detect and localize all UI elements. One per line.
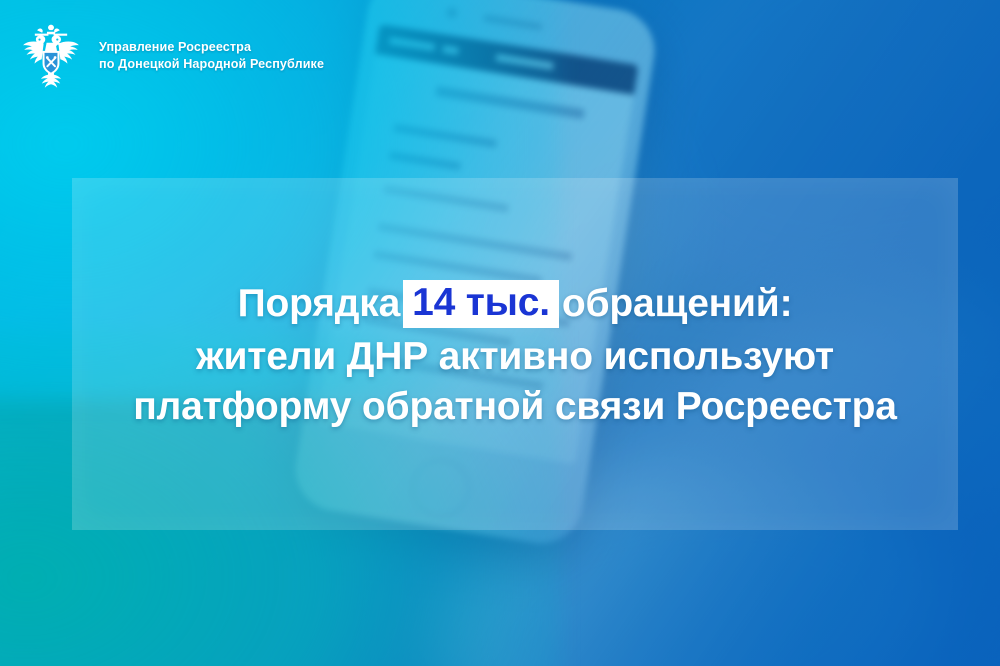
- headline-line-2: жители ДНР активно используют: [196, 336, 834, 378]
- headline-text-block: Порядка 14 тыс. обращений: жители ДНР ак…: [72, 178, 958, 530]
- organisation-name: Управление Росреестра по Донецкой Народн…: [99, 39, 324, 72]
- organisation-name-line1: Управление Росреестра: [99, 39, 324, 56]
- headline-line1-after: обращений:: [562, 283, 793, 325]
- social-media-banner: Управление Росреестра по Донецкой Народн…: [0, 0, 1000, 666]
- logo-block: Управление Росреестра по Донецкой Народн…: [14, 20, 324, 92]
- headline-line-3: платформу обратной связи Росреестра: [133, 386, 897, 428]
- headline-line-1: Порядка 14 тыс. обращений:: [238, 280, 793, 328]
- headline-highlight-badge: 14 тыс.: [403, 280, 559, 328]
- organisation-name-line2: по Донецкой Народной Республике: [99, 56, 324, 73]
- double-headed-eagle-emblem-icon: [14, 20, 88, 92]
- headline-line1-before: Порядка: [238, 283, 400, 325]
